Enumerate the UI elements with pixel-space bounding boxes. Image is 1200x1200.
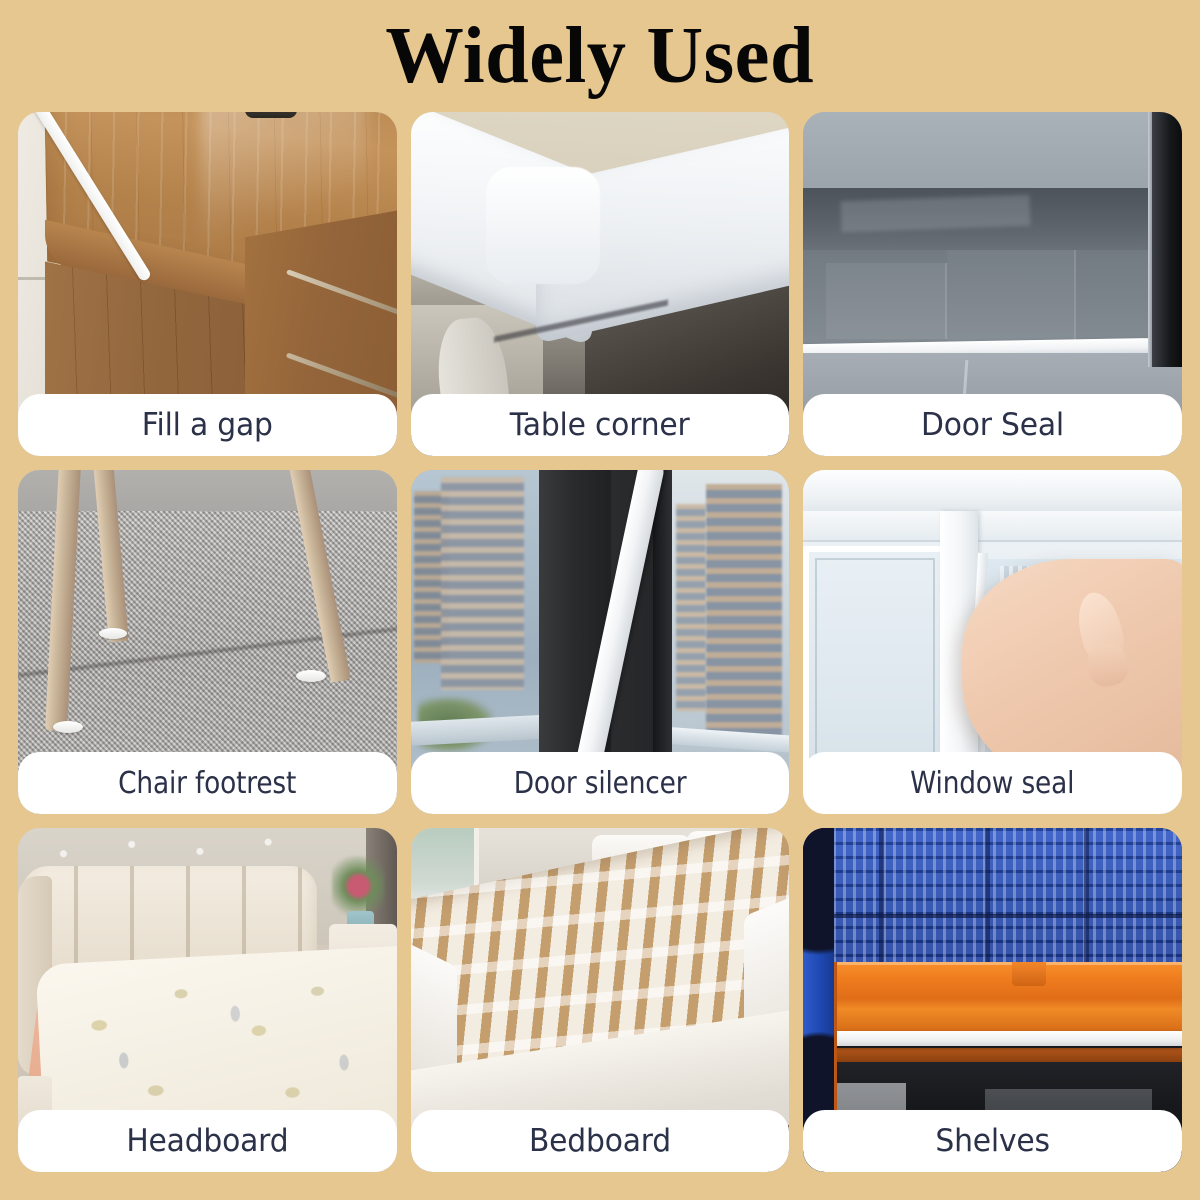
foam-foot-pad-3 — [296, 670, 326, 682]
title-bar: Widely Used — [0, 0, 1200, 112]
crate-stack-divider — [803, 914, 1182, 918]
rack-lower-beam — [834, 1048, 1182, 1062]
infographic-page: Widely Used Fill a gap — [0, 0, 1200, 1200]
floor-reflection-tile-b — [947, 250, 1076, 343]
crate-separator-3 — [1084, 828, 1089, 966]
foam-guard-corner-tip — [486, 167, 600, 284]
caption-label: Headboard — [126, 1123, 288, 1159]
floor-reflection-tile-a — [826, 263, 947, 339]
card-caption: Fill a gap — [18, 394, 397, 456]
window-head-rail-inner — [803, 511, 1182, 542]
use-case-card-table-corner[interactable]: Table corner — [411, 112, 790, 456]
use-case-card-door-silencer[interactable]: Door silencer — [411, 470, 790, 814]
use-case-card-shelves[interactable]: Shelves — [803, 828, 1182, 1172]
caption-label: Table corner — [510, 407, 690, 443]
use-case-card-headboard[interactable]: Headboard — [18, 828, 397, 1172]
card-caption: Window seal — [803, 752, 1182, 814]
caption-label: Bedboard — [529, 1123, 671, 1159]
beam-clip — [1012, 962, 1046, 986]
caption-label: Window seal — [911, 766, 1075, 801]
building-right — [706, 484, 782, 739]
use-case-card-window-seal[interactable]: Window seal — [803, 470, 1182, 814]
card-caption: Table corner — [411, 394, 790, 456]
use-case-card-bedboard[interactable]: Bedboard — [411, 828, 790, 1172]
shelf-edge-foam-strip — [822, 1031, 1182, 1046]
caption-label: Door Seal — [921, 407, 1064, 443]
building-mid-right — [676, 504, 706, 710]
door-frame — [1152, 112, 1182, 367]
page-title: Widely Used — [386, 16, 815, 96]
building-left — [441, 477, 524, 690]
crate-separator-1 — [879, 828, 884, 966]
use-case-grid: Fill a gap Table corner — [0, 112, 1200, 1186]
card-caption: Headboard — [18, 1110, 397, 1172]
use-case-card-chair-footrest[interactable]: Chair footrest — [18, 470, 397, 814]
glass-upper-section — [803, 112, 1155, 195]
caption-label: Shelves — [935, 1123, 1049, 1159]
card-caption: Door Seal — [803, 394, 1182, 456]
orange-rack-beam — [815, 962, 1182, 1038]
use-case-card-fill-a-gap[interactable]: Fill a gap — [18, 112, 397, 456]
use-case-card-door-seal[interactable]: Door Seal — [803, 112, 1182, 456]
card-caption: Chair footrest — [18, 752, 397, 814]
knuckle — [1085, 641, 1130, 689]
card-caption: Shelves — [803, 1110, 1182, 1172]
card-caption: Bedboard — [411, 1110, 790, 1172]
caption-label: Chair footrest — [118, 766, 296, 801]
glass-highlight — [841, 195, 1031, 233]
decor-pot — [245, 112, 297, 118]
caption-label: Door silencer — [514, 766, 687, 801]
crate-separator-2 — [985, 828, 990, 966]
card-caption: Door silencer — [411, 752, 790, 814]
window-head-rail — [803, 470, 1182, 515]
caption-label: Fill a gap — [142, 407, 273, 443]
blue-plastic-crates — [803, 828, 1182, 966]
